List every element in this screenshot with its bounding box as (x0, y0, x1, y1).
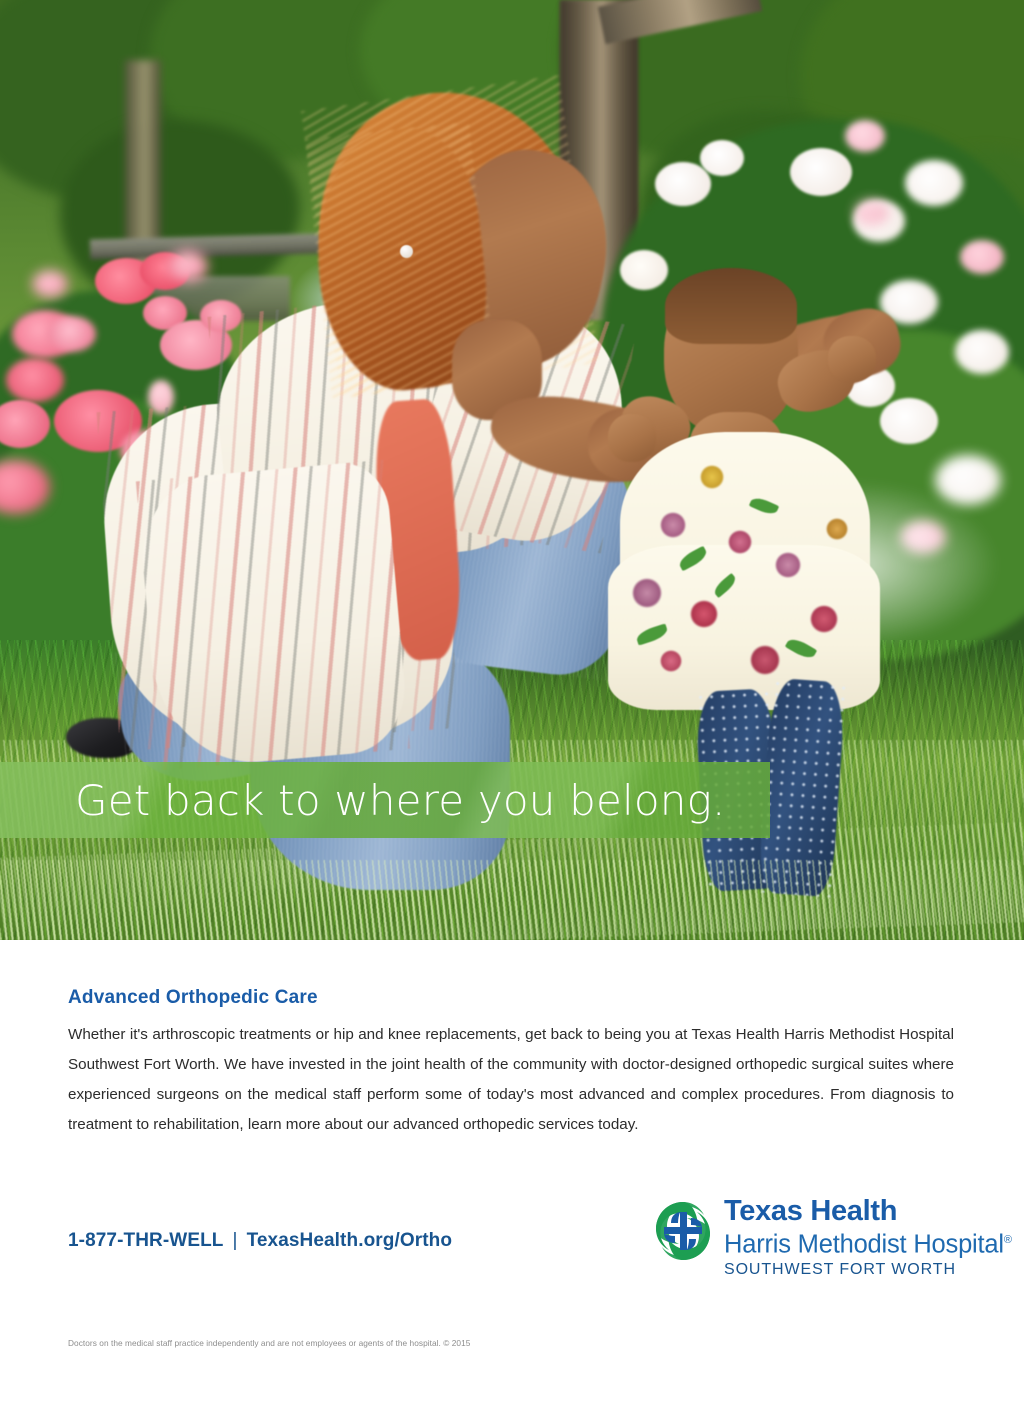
pink-rose (32, 270, 68, 298)
dress-flower (632, 578, 662, 608)
hero-photo: Get back to where you belong. (0, 0, 1024, 940)
content-section: Advanced Orthopedic Care Whether it's ar… (0, 940, 1024, 1412)
logo-line-southwest-fort-worth: SOUTHWEST FORT WORTH (724, 1260, 1012, 1280)
pale-pink-rose (855, 200, 889, 226)
logo-wordmark: Texas Health Harris Methodist Hospital® … (724, 1196, 1012, 1280)
white-rose (880, 398, 938, 444)
woman-earring (400, 245, 413, 258)
white-rose (655, 162, 711, 206)
headline-banner: Get back to where you belong. (0, 762, 770, 838)
dress-flower (660, 650, 682, 672)
dress-flower (826, 518, 848, 540)
logo-line-texas-health: Texas Health (724, 1196, 1012, 1226)
woman-shirt-front-panel (136, 460, 410, 771)
pale-pink-rose (845, 120, 885, 152)
grass-foreground-overlay (0, 860, 1024, 940)
banner-headline: Get back to where you belong. (75, 776, 726, 825)
section-headline: Advanced Orthopedic Care (68, 987, 318, 1009)
pink-rose (48, 316, 96, 352)
legal-disclaimer: Doctors on the medical staff practice in… (68, 1338, 470, 1348)
contact-line: 1-877-THR-WELL|TexasHealth.org/Ortho (68, 1230, 452, 1252)
texas-health-circle-cross-icon (650, 1198, 716, 1264)
pale-pink-rose (960, 240, 1004, 274)
dress-flower (728, 530, 752, 554)
pink-rose (168, 250, 208, 282)
dress-flower (775, 552, 801, 578)
hospital-logo: Texas Health Harris Methodist Hospital® … (650, 1196, 970, 1282)
registered-mark: ® (1004, 1234, 1012, 1246)
website-link[interactable]: TexasHealth.org/Ortho (247, 1230, 453, 1251)
logo-line2-text: Harris Methodist Hospital (724, 1231, 1004, 1259)
phone-number[interactable]: 1-877-THR-WELL (68, 1230, 224, 1251)
white-rose (905, 160, 963, 206)
white-rose (935, 455, 1001, 505)
white-rose (955, 330, 1009, 374)
pink-rose (6, 358, 64, 402)
baby-hair (665, 268, 797, 344)
white-rose (790, 148, 852, 196)
dress-flower (690, 600, 718, 628)
dress-flower (660, 512, 686, 538)
baby-hand-right (828, 336, 876, 382)
dress-flower (700, 465, 724, 489)
body-paragraph: Whether it's arthroscopic treatments or … (68, 1020, 954, 1140)
logo-line-harris-methodist: Harris Methodist Hospital® (724, 1226, 1012, 1260)
baby-hand-left (608, 414, 656, 462)
white-rose (700, 140, 744, 176)
contact-separator: | (224, 1230, 247, 1252)
white-rose (620, 250, 668, 290)
dress-flower (810, 605, 838, 633)
dress-flower (750, 645, 780, 675)
